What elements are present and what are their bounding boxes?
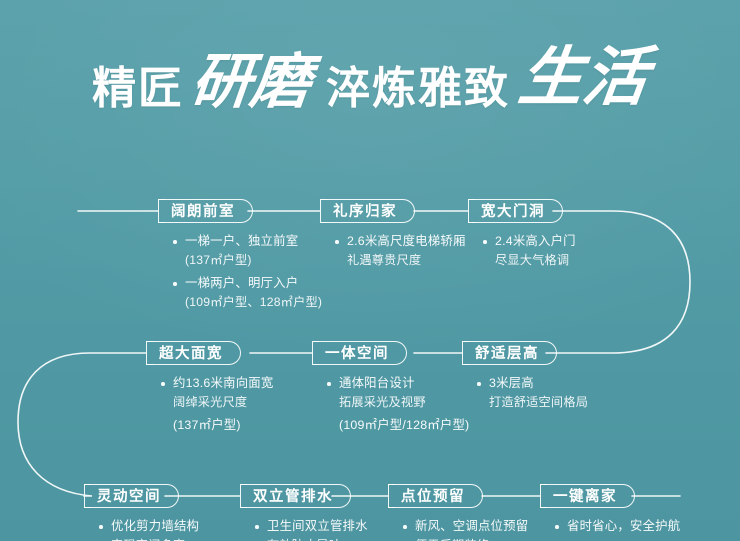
- feature-label-box[interactable]: 阔朗前室: [158, 199, 253, 223]
- feature-bullet-list: 新风、空调点位预留 便于后期装修: [402, 517, 528, 541]
- list-item: 通体阳台设计 拓展采光及视野: [326, 374, 469, 412]
- list-item: (109㎡户型/128㎡户型): [326, 416, 469, 435]
- feature-bullet-list: 卫生间双立管排水 有效防止异味: [254, 517, 368, 541]
- feature-label-box[interactable]: 一键离家: [540, 484, 635, 508]
- bullet-sub: 阔绰采光尺度: [173, 393, 273, 412]
- feature-bullet-list: 省时省心，安全护航: [554, 517, 680, 536]
- feature-shuangliguan-paishui[interactable]: 双立管排水 卫生间双立管排水 有效防止异味: [240, 484, 368, 541]
- feature-lingdong-kongjian[interactable]: 灵动空间 优化剪力墙结构 实现空间多变: [84, 484, 199, 541]
- feature-shushi-cenggao[interactable]: 舒适层高 3米层高 打造舒适空间格局: [462, 341, 588, 416]
- bullet-main: 约13.6米南向面宽: [173, 376, 273, 390]
- bullet-sub: 拓展采光及视野: [339, 393, 469, 412]
- headline-part3: 淬炼雅致: [326, 52, 510, 116]
- feature-label: 灵动空间: [97, 485, 161, 509]
- feature-label-box[interactable]: 一体空间: [312, 341, 407, 365]
- feature-yiti-kongjian[interactable]: 一体空间 通体阳台设计 拓展采光及视野 (109㎡户型/128㎡户型): [312, 341, 469, 439]
- list-item: 2.6米高尺度电梯轿厢 礼遇尊贵尺度: [334, 232, 466, 270]
- feature-label: 双立管排水: [253, 485, 333, 509]
- feature-label-box[interactable]: 超大面宽: [146, 341, 241, 365]
- list-item: 省时省心，安全护航: [554, 517, 680, 536]
- bullet-main: 3米层高: [489, 376, 534, 390]
- feature-label: 超大面宽: [159, 342, 223, 366]
- feature-label: 一键离家: [553, 485, 617, 509]
- feature-label: 宽大门洞: [481, 200, 545, 224]
- bullet-main: 通体阳台设计: [339, 376, 415, 390]
- list-item: 2.4米高入户门 尽显大气格调: [482, 232, 576, 270]
- poster-root: 精匠研磨淬炼雅致生活 阔朗前室 一梯一户、独立前室 (137㎡户型): [0, 0, 740, 541]
- list-item: 优化剪力墙结构 实现空间多变: [98, 517, 199, 541]
- list-item: 一梯一户、独立前室 (137㎡户型): [172, 232, 322, 270]
- bullet-sub: 有效防止异味: [267, 536, 368, 541]
- list-item: 约13.6米南向面宽 阔绰采光尺度: [160, 374, 273, 412]
- bullet-sub: 打造舒适空间格局: [489, 393, 588, 412]
- list-item: 卫生间双立管排水 有效防止异味: [254, 517, 368, 541]
- bullet-main: 一梯一户、独立前室: [185, 234, 298, 248]
- feature-label-box[interactable]: 点位预留: [388, 484, 483, 508]
- feature-bullet-list: 2.4米高入户门 尽显大气格调: [482, 232, 576, 270]
- list-item: 新风、空调点位预留 便于后期装修: [402, 517, 528, 541]
- list-item: 一梯两户、明厅入户 (109㎡户型、128㎡户型): [172, 274, 322, 312]
- list-item: (137㎡户型): [160, 416, 273, 435]
- feature-chaoda-miankuan[interactable]: 超大面宽 约13.6米南向面宽 阔绰采光尺度 (137㎡户型): [146, 341, 273, 439]
- feature-label-box[interactable]: 宽大门洞: [468, 199, 563, 223]
- feature-label: 舒适层高: [475, 342, 539, 366]
- headline-part2: 研磨: [187, 33, 314, 120]
- page-title: 精匠研磨淬炼雅致生活: [0, 34, 740, 134]
- feature-bullet-list: 一梯一户、独立前室 (137㎡户型) 一梯两户、明厅入户 (109㎡户型、128…: [172, 232, 322, 312]
- feature-yijian-lijia[interactable]: 一键离家 省时省心，安全护航: [540, 484, 680, 540]
- feature-label-box[interactable]: 礼序归家: [320, 199, 415, 223]
- bullet-sub: 礼遇尊贵尺度: [347, 251, 466, 270]
- bullet-main: 卫生间双立管排水: [267, 519, 368, 533]
- feature-label: 阔朗前室: [171, 200, 235, 224]
- headline-part1: 精匠: [92, 52, 184, 116]
- bullet-main: (137㎡户型): [173, 418, 241, 432]
- bullet-main: 2.6米高尺度电梯轿厢: [347, 234, 466, 248]
- list-item: 3米层高 打造舒适空间格局: [476, 374, 588, 412]
- feature-kuanda-mendong[interactable]: 宽大门洞 2.4米高入户门 尽显大气格调: [468, 199, 576, 274]
- feature-bullet-list: 约13.6米南向面宽 阔绰采光尺度 (137㎡户型): [160, 374, 273, 435]
- bullet-sub: (137㎡户型): [185, 251, 322, 270]
- feature-label-box[interactable]: 灵动空间: [84, 484, 179, 508]
- bullet-main: 一梯两户、明厅入户: [185, 276, 298, 290]
- feature-bullet-list: 2.6米高尺度电梯轿厢 礼遇尊贵尺度: [334, 232, 466, 270]
- bullet-sub: (109㎡户型、128㎡户型): [185, 293, 322, 312]
- bullet-main: 2.4米高入户门: [495, 234, 576, 248]
- feature-bullet-list: 3米层高 打造舒适空间格局: [476, 374, 588, 412]
- feature-kuolang-qianshi[interactable]: 阔朗前室 一梯一户、独立前室 (137㎡户型) 一梯两户、明厅入户 (109㎡户…: [158, 199, 322, 316]
- feature-label: 点位预留: [401, 485, 465, 509]
- feature-bullet-list: 优化剪力墙结构 实现空间多变: [98, 517, 199, 541]
- bullet-sub: 尽显大气格调: [495, 251, 576, 270]
- bullet-main: 优化剪力墙结构: [111, 519, 199, 533]
- feature-label: 礼序归家: [333, 200, 397, 224]
- feature-label-box[interactable]: 舒适层高: [462, 341, 557, 365]
- bullet-sub: 便于后期装修: [415, 536, 528, 541]
- feature-lixu-guijia[interactable]: 礼序归家 2.6米高尺度电梯轿厢 礼遇尊贵尺度: [320, 199, 466, 274]
- bullet-sub: 实现空间多变: [111, 536, 199, 541]
- feature-label: 一体空间: [325, 342, 389, 366]
- feature-label-box[interactable]: 双立管排水: [240, 484, 351, 508]
- feature-bullet-list: 通体阳台设计 拓展采光及视野 (109㎡户型/128㎡户型): [326, 374, 469, 435]
- bullet-main: 新风、空调点位预留: [415, 519, 528, 533]
- bullet-main: (109㎡户型/128㎡户型): [339, 418, 469, 432]
- headline-part4: 生活: [514, 26, 653, 118]
- feature-dianwei-yuliu[interactable]: 点位预留 新风、空调点位预留 便于后期装修: [388, 484, 528, 541]
- bullet-main: 省时省心，安全护航: [567, 519, 680, 533]
